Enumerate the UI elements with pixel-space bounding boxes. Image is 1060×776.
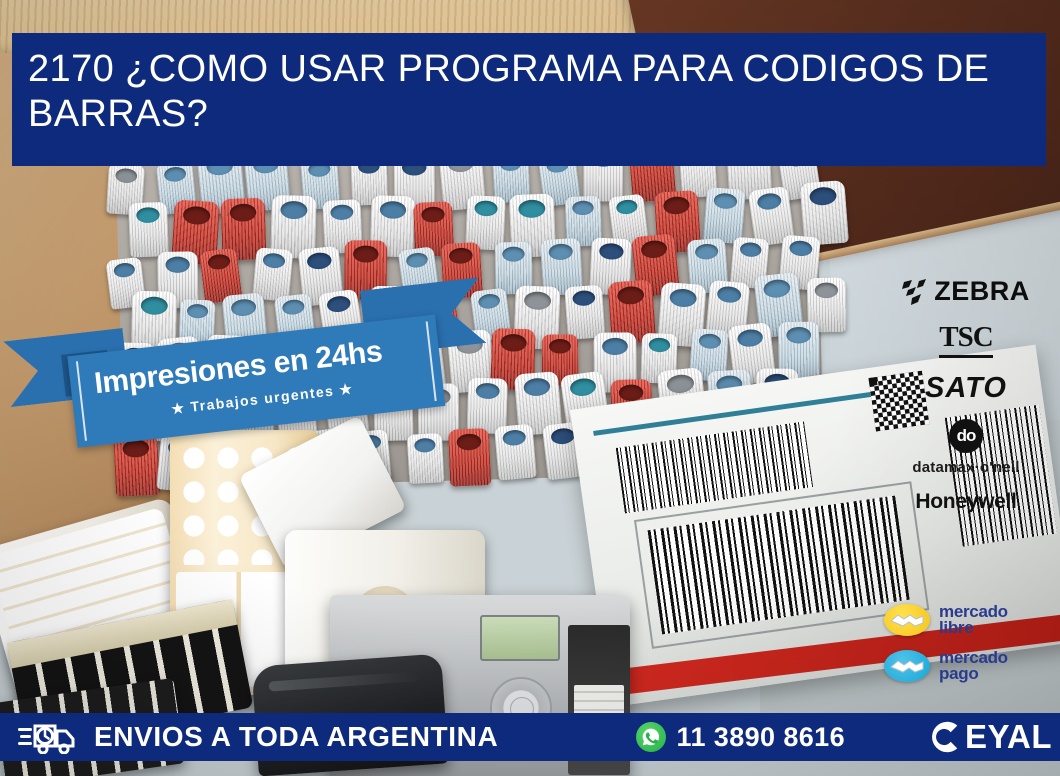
mercado-libre-handshake-icon xyxy=(884,604,930,636)
promotional-banner: ZEBRA TSC SATO do datamax·o'neil Honeywe… xyxy=(0,0,1060,776)
mercado-pago-label: mercadopago xyxy=(939,650,1008,682)
brand-honeywell: Honeywell xyxy=(886,490,1046,514)
title-banner: 2170 ¿COMO USAR PROGRAMA PARA CODIGOS DE… xyxy=(12,33,1046,166)
brand-label-sato: SATO xyxy=(925,372,1007,405)
brand-label-datamax: datamax·o'neil xyxy=(912,459,1019,476)
brand-zebra: ZEBRA xyxy=(886,276,1046,307)
brand-datamax: datamax·o'neil xyxy=(886,457,1046,476)
shipping-text: ENVIOS A TODA ARGENTINA xyxy=(94,721,498,753)
mercado-libre-logo: mercadolibre xyxy=(884,604,1054,636)
brand-sato: SATO xyxy=(886,372,1046,405)
mercado-pago-handshake-icon xyxy=(884,650,930,682)
brand-datamax-mark: do xyxy=(886,419,1046,453)
brand-logo-list: ZEBRA TSC SATO do datamax·o'neil Honeywe… xyxy=(886,276,1046,514)
phone-number[interactable]: 11 3890 8616 xyxy=(677,722,845,753)
bottom-info-bar: ENVIOS A TODA ARGENTINA 11 3890 8616 EYA… xyxy=(0,713,1060,761)
mercado-pago-logo: mercadopago xyxy=(884,650,1054,682)
brand-label-zebra: ZEBRA xyxy=(934,276,1030,307)
do-circle-icon: do xyxy=(949,419,983,453)
ceyal-logo-text: EYAL xyxy=(965,718,1052,756)
phone-contact[interactable]: 11 3890 8616 xyxy=(636,722,845,753)
whatsapp-icon[interactable] xyxy=(636,722,666,752)
brand-label-tsc: TSC xyxy=(939,321,992,358)
ceyal-c-mark-icon xyxy=(925,718,963,756)
brand-tsc: TSC xyxy=(886,321,1046,358)
ceyal-logo: EYAL xyxy=(925,718,1052,756)
brand-label-honeywell: Honeywell xyxy=(915,490,1016,514)
page-title: 2170 ¿COMO USAR PROGRAMA PARA CODIGOS DE… xyxy=(28,47,1030,137)
mercado-libre-label: mercadolibre xyxy=(939,604,1008,636)
zebra-stripe-icon xyxy=(902,278,928,306)
delivery-truck-clock-icon xyxy=(18,720,76,754)
payment-logo-list: mercadolibre mercadopago xyxy=(884,604,1054,683)
